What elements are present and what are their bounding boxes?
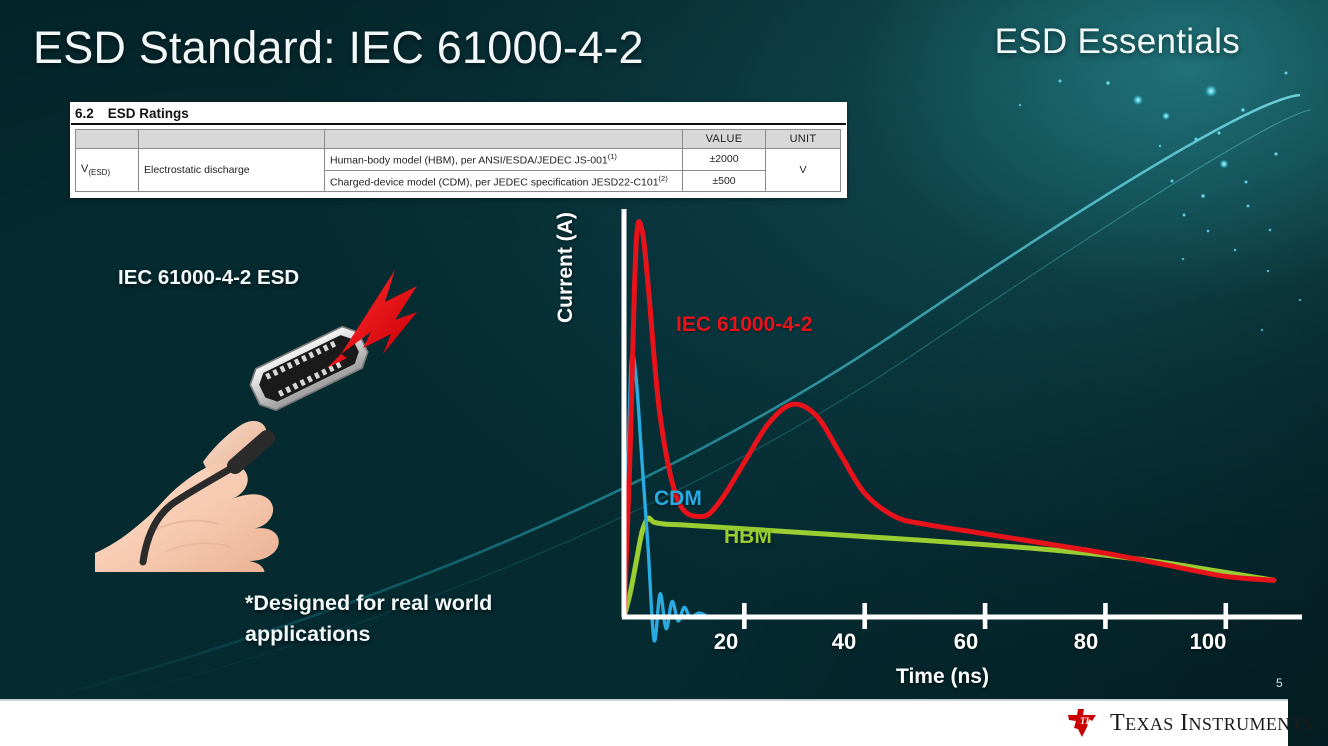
- slide-canvas: ESD Standard: IEC 61000-4-2 ESD Essentia…: [0, 0, 1328, 746]
- chart-y-axis-label: Current (A): [554, 212, 578, 323]
- cdm-footnote: (2): [659, 174, 668, 183]
- ti-word1-rest: EXAS: [1125, 714, 1174, 734]
- table-row: V(ESD) Electrostatic discharge Human-bod…: [76, 149, 841, 171]
- esd-waveform-chart: Current (A) Time (ns) IEC 61000-4-2 CDM …: [566, 205, 1306, 695]
- chart-plot-area: [566, 205, 1306, 675]
- header-value: VALUE: [683, 130, 766, 149]
- section-title: ESD Ratings: [108, 106, 189, 121]
- hbm-description: Human-body model (HBM), per ANSI/ESDA/JE…: [330, 155, 608, 167]
- cdm-description: Charged-device model (CDM), per JEDEC sp…: [330, 176, 659, 188]
- cell-symbol: V(ESD): [76, 149, 139, 192]
- symbol-subscript: (ESD): [88, 168, 110, 177]
- header-parameter: [139, 130, 325, 149]
- ti-texas-icon: TI: [1065, 708, 1099, 738]
- cell-description-hbm: Human-body model (HBM), per ANSI/ESDA/JE…: [325, 149, 683, 171]
- page-number: 5: [1276, 676, 1283, 690]
- header-symbol: [76, 130, 139, 149]
- ti-word1-cap: T: [1110, 710, 1125, 736]
- series-label-cdm: CDM: [654, 487, 702, 511]
- x-tick-label-100: 100: [1190, 629, 1227, 655]
- series-label-hbm: HBM: [724, 525, 772, 549]
- chart-x-axis-label: Time (ns): [896, 665, 989, 689]
- esd-ratings-table: 6.2ESD Ratings VALUE UNIT V(ESD) Electro…: [70, 102, 847, 198]
- page-title: ESD Standard: IEC 61000-4-2: [33, 22, 644, 74]
- texas-instruments-logo: TI TEXAS INSTRUMENTS: [1065, 708, 1313, 738]
- cell-value-hbm: ±2000: [683, 149, 766, 171]
- hand-connector-illustration: [95, 262, 435, 572]
- ti-word2-rest: NSTRUMENTS: [1188, 714, 1312, 734]
- header-description: [325, 130, 683, 149]
- x-tick-label-80: 80: [1074, 629, 1098, 655]
- svg-text:TI: TI: [1080, 716, 1089, 726]
- brand-label: ESD Essentials: [995, 22, 1240, 62]
- hbm-footnote: (1): [608, 152, 617, 161]
- ratings-grid: VALUE UNIT V(ESD) Electrostatic discharg…: [75, 129, 841, 192]
- cell-unit: V: [766, 149, 841, 192]
- series-label-iec: IEC 61000-4-2: [676, 313, 813, 337]
- table-header-row: VALUE UNIT: [76, 130, 841, 149]
- x-tick-label-20: 20: [714, 629, 738, 655]
- cell-parameter: Electrostatic discharge: [139, 149, 325, 192]
- x-tick-label-40: 40: [832, 629, 856, 655]
- ti-wordmark: TEXAS INSTRUMENTS: [1110, 710, 1313, 737]
- table-section-heading: 6.2ESD Ratings: [71, 103, 846, 125]
- section-number: 6.2: [75, 106, 94, 121]
- cell-description-cdm: Charged-device model (CDM), per JEDEC sp…: [325, 170, 683, 192]
- header-unit: UNIT: [766, 130, 841, 149]
- x-tick-label-60: 60: [954, 629, 978, 655]
- design-note: *Designed for real world applications: [245, 588, 575, 650]
- cell-value-cdm: ±500: [683, 170, 766, 192]
